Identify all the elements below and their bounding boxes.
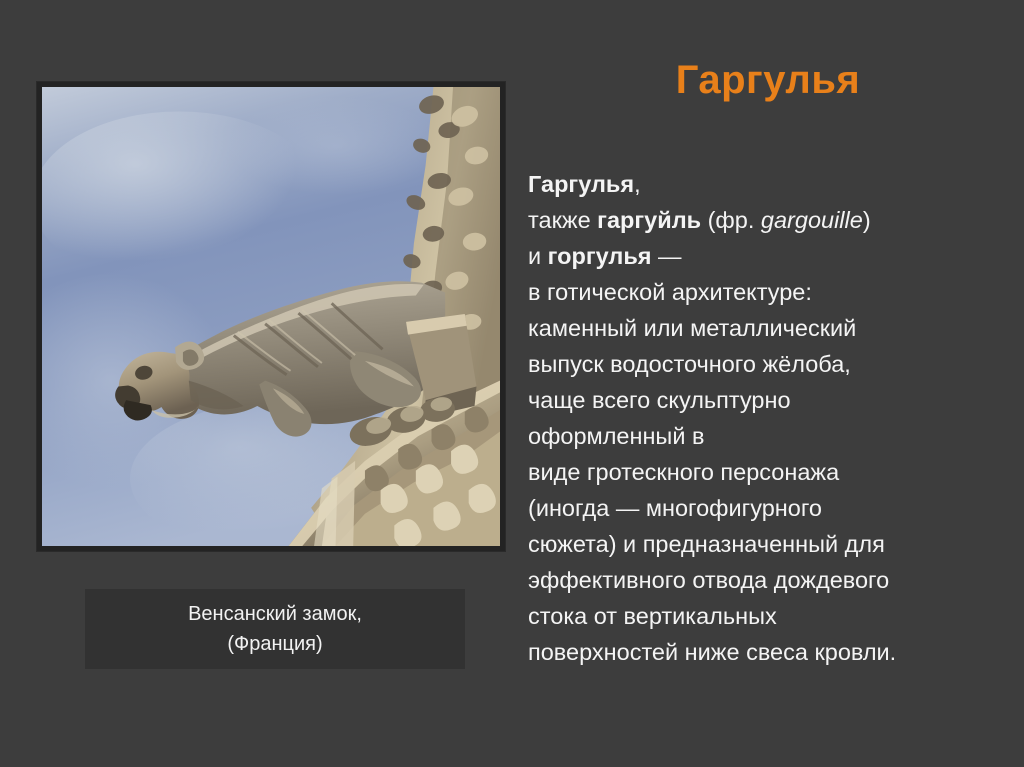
body-line-1: Гаргулья,: [528, 166, 998, 202]
text-run: (фр.: [701, 207, 761, 233]
caption-line-2: (Франция): [227, 629, 322, 659]
text-run: (иногда — многофигурного: [528, 495, 822, 521]
text-run: чаще всего скульптурно: [528, 387, 791, 413]
body-text: Гаргулья, также гаргуйль (фр. gargouille…: [528, 166, 998, 670]
text-run: и: [528, 243, 548, 269]
gargoyle-photo: [42, 87, 500, 546]
body-line-7: чаще всего скульптурно: [528, 382, 998, 418]
body-line-5: каменный или металлический: [528, 310, 998, 346]
text-run: gargouille: [761, 207, 863, 233]
text-run: ,: [634, 171, 641, 197]
body-line-4: в готической архитектуре:: [528, 274, 998, 310]
body-line-10: (иногда — многофигурного: [528, 490, 998, 526]
text-run: Гаргулья: [528, 171, 634, 197]
text-run: сюжета) и предназначенный для: [528, 531, 885, 557]
text-run: гаргуйль: [597, 207, 701, 233]
body-line-9: виде гротескного персонажа: [528, 454, 998, 490]
caption-line-1: Венсанский замок,: [188, 599, 362, 629]
text-run: также: [528, 207, 597, 233]
photo-caption: Венсанский замок, (Франция): [85, 589, 465, 669]
body-line-11: сюжета) и предназначенный для: [528, 526, 998, 562]
text-run: выпуск водосточного жёлоба,: [528, 351, 851, 377]
text-run: виде гротескного персонажа: [528, 459, 839, 485]
slide-root: Гаргулья: [0, 0, 1024, 767]
body-line-14: поверхностей ниже свеса кровли.: [528, 634, 998, 670]
gargoyle-photo-frame: [37, 82, 505, 551]
text-run: стока от вертикальных: [528, 603, 777, 629]
text-run: ): [863, 207, 871, 233]
page-title: Гаргулья: [512, 57, 1024, 103]
body-line-12: эффективного отвода дождевого: [528, 562, 998, 598]
text-run: в готической архитектуре:: [528, 279, 812, 305]
gargoyle-illustration: [42, 87, 500, 546]
text-run: оформленный в: [528, 423, 704, 449]
body-line-2: также гаргуйль (фр. gargouille): [528, 202, 998, 238]
body-line-3: и горгулья —: [528, 238, 998, 274]
text-run: горгулья: [548, 243, 652, 269]
body-line-6: выпуск водосточного жёлоба,: [528, 346, 998, 382]
text-run: каменный или металлический: [528, 315, 856, 341]
body-line-13: стока от вертикальных: [528, 598, 998, 634]
text-run: поверхностей ниже свеса кровли.: [528, 639, 896, 665]
text-run: —: [651, 243, 681, 269]
text-run: эффективного отвода дождевого: [528, 567, 889, 593]
body-line-8: оформленный в: [528, 418, 998, 454]
